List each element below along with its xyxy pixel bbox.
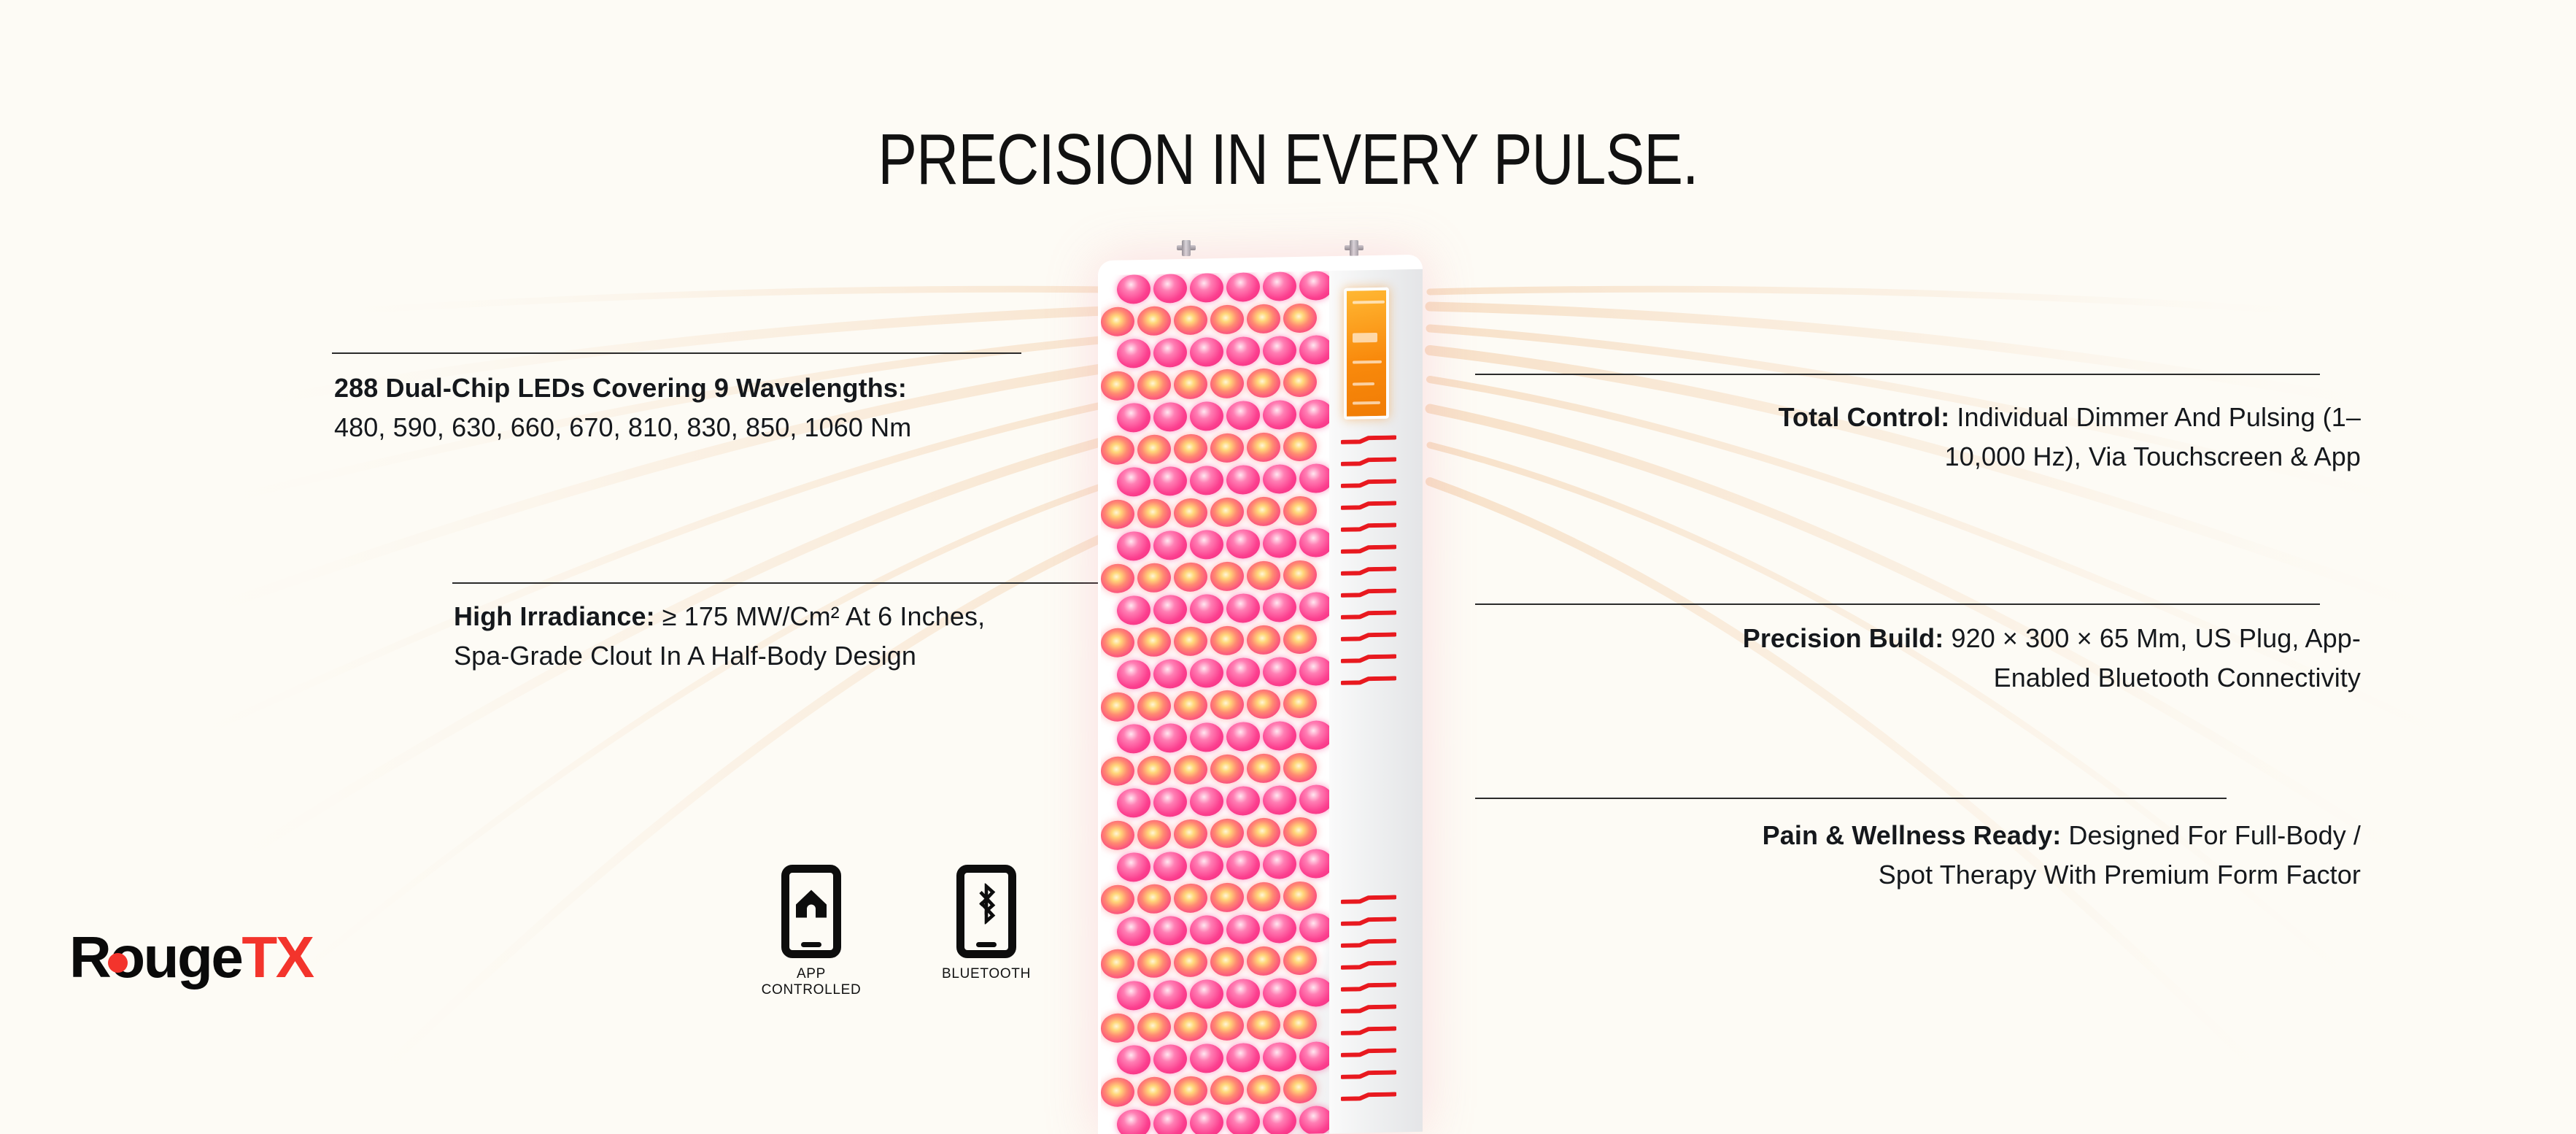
led-lamp bbox=[1153, 916, 1187, 946]
led-lamp bbox=[1153, 787, 1187, 817]
led-lamp bbox=[1210, 561, 1244, 591]
indicator-zigzag bbox=[1341, 981, 1396, 990]
led-lamp bbox=[1190, 273, 1223, 303]
spec-pain-wellness: Pain & Wellness Ready: Designed For Full… bbox=[1704, 816, 2361, 895]
led-lamp bbox=[1247, 689, 1280, 719]
led-lamp bbox=[1283, 496, 1317, 526]
led-lamp bbox=[1153, 338, 1187, 368]
led-lamp bbox=[1137, 498, 1171, 528]
spec-pain-wellness-label: Pain & Wellness Ready: bbox=[1763, 820, 2062, 850]
led-lamp bbox=[1263, 721, 1296, 751]
led-lamp bbox=[1283, 882, 1317, 911]
spec-total-control-value: Individual Dimmer And Pulsing (1–10,000 … bbox=[1945, 402, 2361, 471]
product-image-red-light-panel bbox=[1098, 252, 1481, 1134]
led-lamp bbox=[1263, 271, 1296, 301]
led-lamp bbox=[1153, 659, 1187, 689]
led-lamp bbox=[1210, 433, 1244, 463]
led-lamp bbox=[1190, 915, 1223, 945]
led-lamp bbox=[1101, 499, 1134, 529]
indicator-zigzag bbox=[1341, 1046, 1396, 1055]
led-lamp bbox=[1226, 657, 1260, 687]
led-lamp bbox=[1101, 756, 1134, 786]
led-lamp bbox=[1226, 401, 1260, 431]
led-lamp bbox=[1247, 1074, 1280, 1104]
led-lamp bbox=[1226, 465, 1260, 495]
led-lamp bbox=[1299, 1041, 1331, 1071]
indicator-zigzag bbox=[1341, 543, 1396, 552]
led-lamp bbox=[1190, 594, 1223, 624]
indicator-zigzag bbox=[1341, 433, 1396, 442]
led-lamp bbox=[1174, 1011, 1207, 1041]
led-lamp bbox=[1283, 432, 1317, 462]
led-lamp bbox=[1210, 690, 1244, 720]
spec-leds: 288 Dual-Chip LEDs Covering 9 Wavelength… bbox=[334, 369, 932, 447]
led-lamp bbox=[1153, 531, 1187, 560]
led-lamp bbox=[1117, 403, 1150, 433]
led-lamp bbox=[1247, 304, 1280, 333]
led-lamp bbox=[1117, 274, 1150, 304]
led-lamp bbox=[1283, 689, 1317, 719]
logo-accent-text: TX bbox=[241, 925, 312, 990]
led-lamp bbox=[1263, 464, 1296, 494]
led-lamp bbox=[1247, 753, 1280, 783]
led-lamp bbox=[1153, 723, 1187, 753]
led-lamp bbox=[1299, 335, 1331, 365]
led-lamp bbox=[1247, 817, 1280, 847]
led-lamp bbox=[1174, 755, 1207, 784]
led-lamp bbox=[1299, 913, 1331, 943]
led-lamp bbox=[1153, 274, 1187, 304]
led-lamp bbox=[1137, 563, 1171, 593]
led-lamp bbox=[1210, 304, 1244, 334]
brand-logo: RougeTX bbox=[69, 928, 313, 987]
led-lamp bbox=[1101, 820, 1134, 850]
led-lamp bbox=[1210, 754, 1244, 784]
indicator-zigzag bbox=[1341, 915, 1396, 924]
led-lamp bbox=[1263, 336, 1296, 366]
led-lamp bbox=[1299, 592, 1331, 622]
led-lamp bbox=[1174, 433, 1207, 463]
feature-app-controlled: APP CONTROLLED bbox=[746, 865, 877, 998]
led-lamp bbox=[1174, 369, 1207, 399]
led-lamp bbox=[1117, 981, 1150, 1011]
led-lamp bbox=[1226, 786, 1260, 816]
led-lamp bbox=[1299, 271, 1331, 301]
led-lamp bbox=[1137, 306, 1171, 336]
led-lamp bbox=[1117, 724, 1150, 754]
led-lamp bbox=[1137, 755, 1171, 785]
indicator-zigzag bbox=[1341, 893, 1396, 902]
led-lamp bbox=[1190, 401, 1223, 431]
led-lamp bbox=[1190, 466, 1223, 495]
led-lamp bbox=[1153, 466, 1187, 496]
led-lamp bbox=[1210, 882, 1244, 912]
led-lamp bbox=[1247, 1010, 1280, 1040]
indicator-zigzag bbox=[1341, 455, 1396, 464]
spec-precision-build-label: Precision Build: bbox=[1743, 623, 1944, 653]
led-lamp bbox=[1263, 914, 1296, 944]
indicator-zigzag bbox=[1341, 587, 1396, 595]
led-lamp bbox=[1226, 336, 1260, 366]
led-lamp bbox=[1283, 1010, 1317, 1040]
feature-bluetooth-caption: BLUETOOTH bbox=[921, 966, 1052, 982]
led-lamp bbox=[1101, 371, 1134, 401]
led-lamp bbox=[1299, 720, 1331, 750]
page-title: PRECISION IN EVERY PULSE. bbox=[232, 118, 2344, 201]
divider-right-top bbox=[1475, 374, 2320, 375]
led-lamp bbox=[1137, 370, 1171, 400]
indicator-zigzag bbox=[1341, 499, 1396, 508]
led-lamp bbox=[1117, 595, 1150, 625]
led-lamp bbox=[1117, 339, 1150, 369]
led-lamp bbox=[1137, 819, 1171, 849]
led-lamp bbox=[1174, 626, 1207, 656]
app-controlled-phone-icon bbox=[781, 865, 841, 958]
led-lamp bbox=[1153, 1108, 1187, 1134]
led-lamp bbox=[1153, 1044, 1187, 1074]
led-lamp bbox=[1283, 304, 1317, 333]
indicator-zigzag bbox=[1341, 1025, 1396, 1033]
app-house-glyph-icon bbox=[794, 888, 828, 922]
bluetooth-glyph-icon bbox=[971, 883, 1002, 927]
led-lamp bbox=[1210, 946, 1244, 976]
feature-bluetooth: BLUETOOTH bbox=[921, 865, 1052, 982]
led-lamp bbox=[1299, 1106, 1331, 1134]
led-lamp bbox=[1263, 1106, 1296, 1134]
feature-app-controlled-caption: APP CONTROLLED bbox=[746, 966, 877, 998]
spec-precision-build-value: 920 × 300 × 65 Mm, US Plug, App-Enabled … bbox=[1943, 623, 2361, 693]
led-lamp bbox=[1247, 432, 1280, 462]
led-lamp bbox=[1174, 562, 1207, 592]
led-lamp bbox=[1226, 979, 1260, 1008]
divider-right-middle bbox=[1475, 603, 2320, 605]
led-lamp bbox=[1247, 560, 1280, 590]
led-lamp bbox=[1101, 949, 1134, 979]
led-lamp bbox=[1283, 946, 1317, 976]
led-lamp bbox=[1299, 784, 1331, 814]
led-lamp bbox=[1174, 498, 1207, 528]
spec-precision-build: Precision Build: 920 × 300 × 65 Mm, US P… bbox=[1704, 619, 2361, 698]
led-lamp bbox=[1153, 852, 1187, 882]
led-lamp bbox=[1210, 1011, 1244, 1041]
led-lamp bbox=[1137, 434, 1171, 464]
led-lamp bbox=[1174, 690, 1207, 720]
led-lamp bbox=[1174, 819, 1207, 849]
infographic-canvas: PRECISION IN EVERY PULSE. 288 Dual-Chip … bbox=[0, 0, 2576, 1134]
led-lamp bbox=[1117, 1109, 1150, 1134]
device-side-rail bbox=[1329, 269, 1423, 1134]
led-lamp bbox=[1137, 627, 1171, 657]
device-touchscreen bbox=[1344, 288, 1389, 420]
led-lamp bbox=[1210, 1075, 1244, 1105]
device-body bbox=[1098, 255, 1423, 1134]
led-lamp bbox=[1226, 722, 1260, 752]
led-lamp bbox=[1190, 787, 1223, 817]
led-lamp bbox=[1190, 1044, 1223, 1073]
led-lamp bbox=[1247, 946, 1280, 976]
led-lamp bbox=[1210, 818, 1244, 848]
led-lamp bbox=[1101, 692, 1134, 722]
led-lamp bbox=[1101, 1077, 1134, 1107]
led-lamp bbox=[1263, 785, 1296, 815]
indicator-zigzag bbox=[1341, 959, 1396, 968]
led-lamp bbox=[1283, 817, 1317, 847]
led-lamp bbox=[1137, 1076, 1171, 1106]
led-lamp bbox=[1299, 528, 1331, 558]
indicator-zigzag bbox=[1341, 937, 1396, 946]
led-lamp bbox=[1226, 272, 1260, 302]
mounting-bracket-right-icon bbox=[1345, 239, 1364, 258]
led-lamp bbox=[1190, 1108, 1223, 1134]
divider-left-bottom bbox=[452, 582, 1109, 584]
led-lamp bbox=[1283, 1074, 1317, 1104]
led-lamp bbox=[1263, 849, 1296, 879]
led-lamp bbox=[1210, 497, 1244, 527]
indicator-zigzag bbox=[1341, 1003, 1396, 1011]
led-lamp bbox=[1174, 947, 1207, 977]
led-lamp bbox=[1247, 882, 1280, 911]
led-lamp bbox=[1117, 852, 1150, 882]
led-lamp bbox=[1263, 1042, 1296, 1072]
led-lamp bbox=[1299, 977, 1331, 1007]
led-lamp bbox=[1299, 849, 1331, 879]
led-lamp bbox=[1247, 625, 1280, 655]
logo-red-dot-icon bbox=[108, 953, 128, 973]
led-lamp bbox=[1174, 305, 1207, 335]
led-lamp bbox=[1263, 978, 1296, 1008]
led-lamp bbox=[1190, 851, 1223, 881]
led-array bbox=[1101, 271, 1331, 1134]
logo-primary-text: Rouge bbox=[69, 925, 241, 990]
spec-irradiance: High Irradiance: ≥ 175 MW/Cm² At 6 Inche… bbox=[454, 597, 1037, 676]
led-lamp bbox=[1226, 529, 1260, 559]
led-lamp bbox=[1117, 531, 1150, 561]
divider-right-bottom bbox=[1475, 798, 2227, 799]
led-lamp bbox=[1226, 1043, 1260, 1073]
indicator-zigzag bbox=[1341, 1068, 1396, 1077]
led-lamp bbox=[1190, 658, 1223, 688]
led-lamp bbox=[1101, 435, 1134, 465]
led-lamp bbox=[1263, 593, 1296, 622]
led-lamp bbox=[1101, 884, 1134, 914]
led-lamp bbox=[1190, 722, 1223, 752]
led-lamp bbox=[1153, 980, 1187, 1010]
mounting-bracket-left-icon bbox=[1177, 239, 1196, 258]
led-lamp bbox=[1226, 593, 1260, 623]
spec-leds-value: 480, 590, 630, 660, 670, 810, 830, 850, … bbox=[334, 412, 911, 442]
led-lamp bbox=[1137, 691, 1171, 721]
led-lamp bbox=[1137, 1012, 1171, 1042]
led-lamp bbox=[1283, 753, 1317, 783]
indicator-zigzag bbox=[1341, 1090, 1396, 1099]
led-lamp bbox=[1299, 656, 1331, 686]
led-lamp bbox=[1226, 1107, 1260, 1134]
led-lamp bbox=[1101, 306, 1134, 336]
indicator-zigzag bbox=[1341, 674, 1396, 683]
led-lamp bbox=[1263, 400, 1296, 430]
led-lamp bbox=[1226, 850, 1260, 880]
led-lamp bbox=[1101, 563, 1134, 593]
led-lamp bbox=[1263, 528, 1296, 558]
led-lamp bbox=[1174, 1076, 1207, 1106]
led-lamp bbox=[1226, 914, 1260, 944]
led-lamp bbox=[1247, 368, 1280, 398]
led-lamp bbox=[1283, 368, 1317, 398]
led-lamp bbox=[1190, 337, 1223, 367]
led-lamp bbox=[1283, 625, 1317, 655]
led-lamp bbox=[1137, 948, 1171, 978]
led-lamp bbox=[1117, 1045, 1150, 1075]
led-lamp bbox=[1263, 657, 1296, 687]
led-lamp bbox=[1299, 463, 1331, 493]
indicator-zigzag bbox=[1341, 477, 1396, 486]
led-lamp bbox=[1299, 399, 1331, 429]
led-lamp bbox=[1117, 788, 1150, 818]
led-lamp bbox=[1153, 595, 1187, 625]
bluetooth-phone-icon bbox=[956, 865, 1016, 958]
led-lamp bbox=[1101, 1013, 1134, 1043]
led-lamp bbox=[1117, 467, 1150, 497]
spec-irradiance-label: High Irradiance: bbox=[454, 601, 655, 631]
indicator-zigzag bbox=[1341, 609, 1396, 617]
led-lamp bbox=[1153, 402, 1187, 432]
led-lamp bbox=[1117, 660, 1150, 690]
led-lamp bbox=[1117, 917, 1150, 946]
led-lamp bbox=[1174, 883, 1207, 913]
indicator-zigzag bbox=[1341, 652, 1396, 661]
spec-total-control-label: Total Control: bbox=[1779, 402, 1950, 432]
indicator-zigzag bbox=[1341, 521, 1396, 530]
led-lamp bbox=[1247, 496, 1280, 526]
led-lamp bbox=[1210, 625, 1244, 655]
indicator-zigzag bbox=[1341, 630, 1396, 639]
led-lamp bbox=[1190, 979, 1223, 1009]
spec-total-control: Total Control: Individual Dimmer And Pul… bbox=[1704, 398, 2361, 477]
led-lamp bbox=[1283, 560, 1317, 590]
led-lamp bbox=[1101, 628, 1134, 657]
indicator-zigzag bbox=[1341, 565, 1396, 574]
divider-left-top bbox=[332, 352, 1021, 354]
spec-leds-label: 288 Dual-Chip LEDs Covering 9 Wavelength… bbox=[334, 373, 907, 403]
led-lamp bbox=[1210, 369, 1244, 398]
led-lamp bbox=[1137, 884, 1171, 914]
led-lamp bbox=[1190, 530, 1223, 560]
